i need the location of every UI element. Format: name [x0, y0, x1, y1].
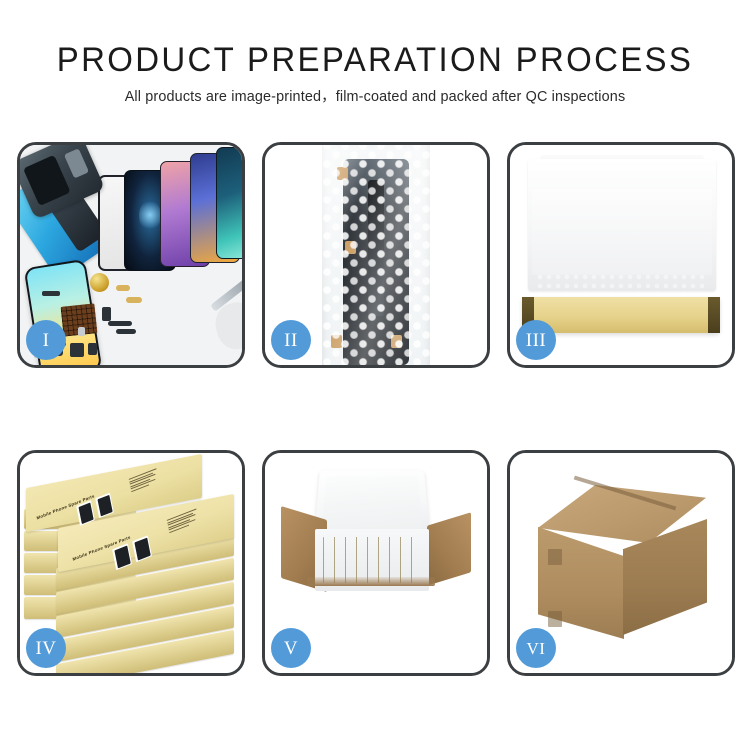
- carton-tape-patch: [548, 549, 562, 565]
- speaker-component: [90, 273, 109, 292]
- step-panel-6: VI: [507, 450, 735, 676]
- step-badge-6: VI: [516, 628, 556, 668]
- flex-cable-part: [126, 297, 142, 303]
- step-panel-5: V: [262, 450, 490, 676]
- small-part: [102, 307, 111, 321]
- small-part: [88, 343, 97, 355]
- step-badge-2: II: [271, 320, 311, 360]
- carton-flap-right: [427, 512, 471, 585]
- small-part: [116, 329, 136, 334]
- small-part: [108, 321, 132, 326]
- box-label-spec-lines: [129, 468, 159, 493]
- small-part: [42, 291, 60, 296]
- teal-gradient-phone: [216, 147, 242, 259]
- carton-tape-patch: [548, 611, 562, 627]
- step-badge-3: III: [516, 320, 556, 360]
- step-panel-2: II: [262, 142, 490, 368]
- step-badge-4: IV: [26, 628, 66, 668]
- foam-sheet: [532, 189, 712, 275]
- page-title: PRODUCT PREPARATION PROCESS: [11, 0, 739, 79]
- process-steps-grid: I II III: [17, 142, 735, 676]
- box-label-spec-lines: [167, 509, 199, 535]
- step-badge-1: I: [26, 320, 66, 360]
- plastic-gloss: [322, 145, 430, 365]
- step-panel-3: III: [507, 142, 735, 368]
- box-label-window: [95, 493, 114, 519]
- page-subtitle: All products are image-printed，film-coat…: [0, 79, 750, 106]
- carton-body: [309, 581, 433, 653]
- small-part: [70, 343, 84, 357]
- header: PRODUCT PREPARATION PROCESS All products…: [0, 0, 750, 106]
- step-panel-4: Mobile Phone Spare Parts Mobile Phone Sp…: [17, 450, 245, 676]
- step-badge-5: V: [271, 628, 311, 668]
- step-panel-1: I: [17, 142, 245, 368]
- product-preparation-infographic: PRODUCT PREPARATION PROCESS All products…: [0, 0, 750, 750]
- flex-cable-part: [116, 285, 130, 291]
- small-part: [78, 327, 85, 336]
